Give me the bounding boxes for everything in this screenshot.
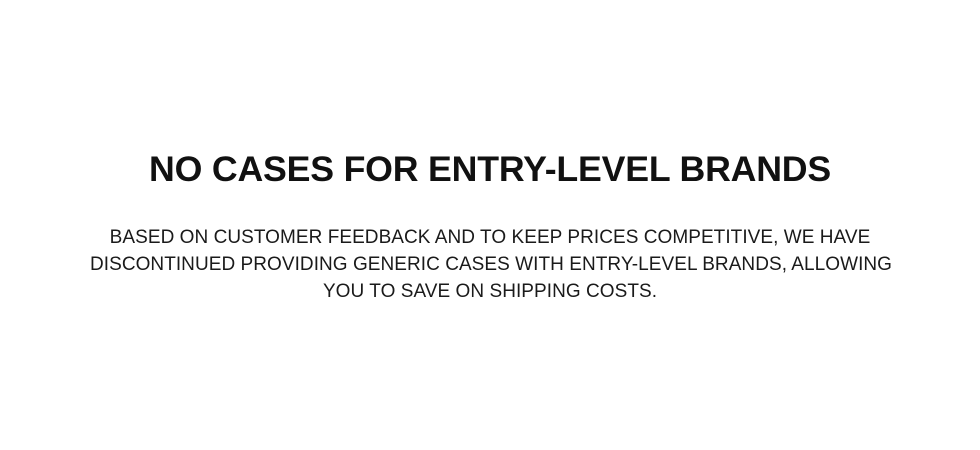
promo-banner: NO CASES FOR ENTRY-LEVEL BRANDS BASED ON… [0,0,980,450]
promo-description-line-3: YOU TO SAVE ON SHIPPING COSTS. [90,278,890,305]
promo-description-line-2: DISCONTINUED PROVIDING GENERIC CASES WIT… [90,251,890,278]
promo-description-line-1: BASED ON CUSTOMER FEEDBACK AND TO KEEP P… [90,224,890,251]
page-title: NO CASES FOR ENTRY-LEVEL BRANDS [0,150,980,190]
promo-description: BASED ON CUSTOMER FEEDBACK AND TO KEEP P… [90,224,890,305]
